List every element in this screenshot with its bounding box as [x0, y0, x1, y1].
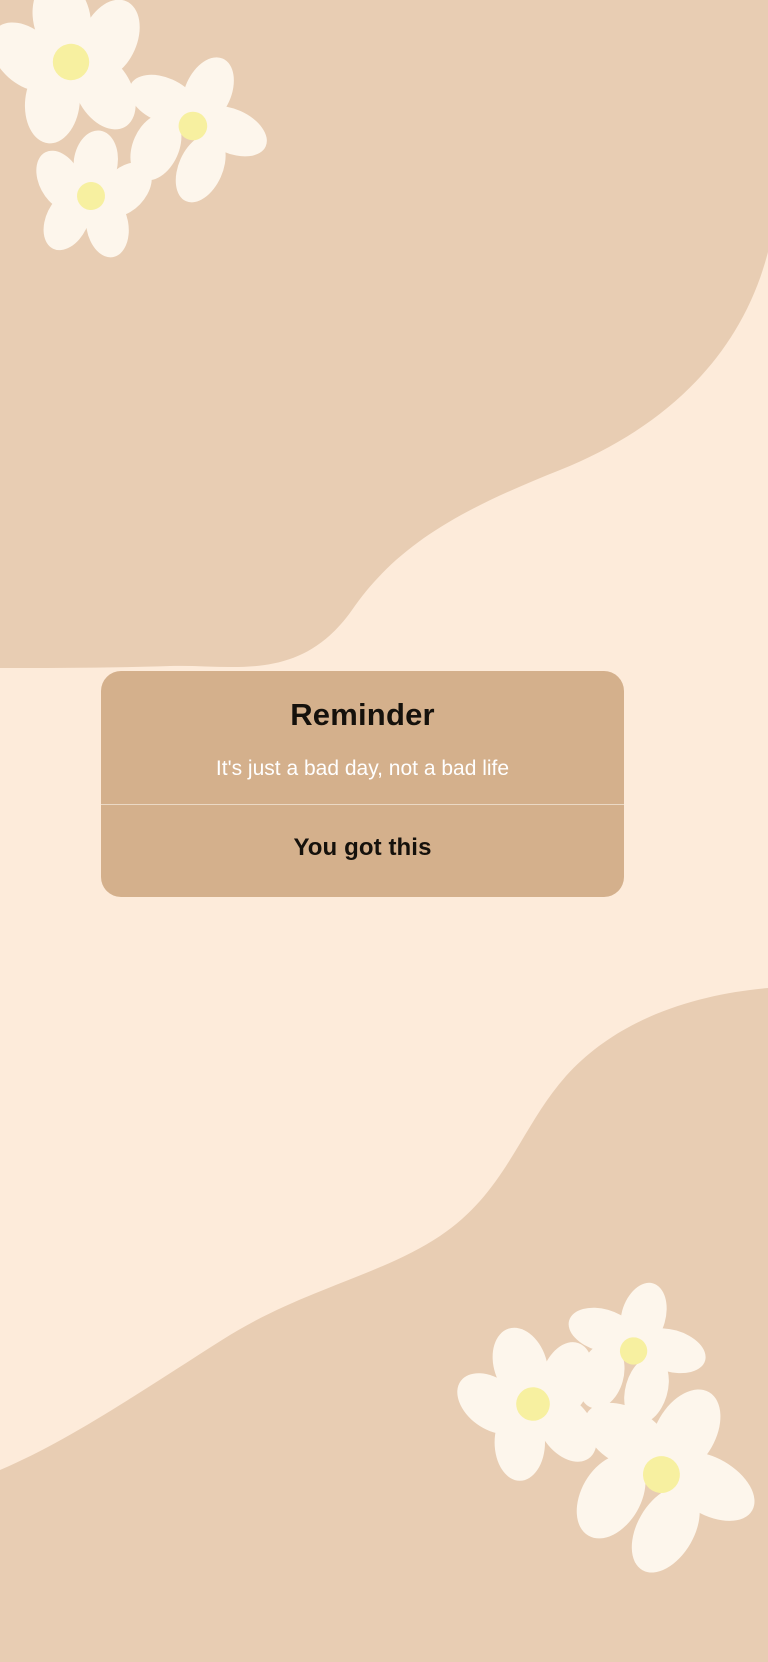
wallpaper-canvas: Reminder It's just a bad day, not a bad …: [0, 0, 768, 1662]
reminder-card-footer: You got this: [101, 805, 624, 897]
you-got-this-button[interactable]: You got this: [293, 834, 431, 863]
reminder-card[interactable]: Reminder It's just a bad day, not a bad …: [101, 671, 624, 897]
reminder-title: Reminder: [101, 697, 624, 733]
card-divider: [101, 804, 624, 805]
reminder-card-body: Reminder It's just a bad day, not a bad …: [101, 671, 624, 805]
reminder-message: It's just a bad day, not a bad life: [101, 733, 624, 782]
